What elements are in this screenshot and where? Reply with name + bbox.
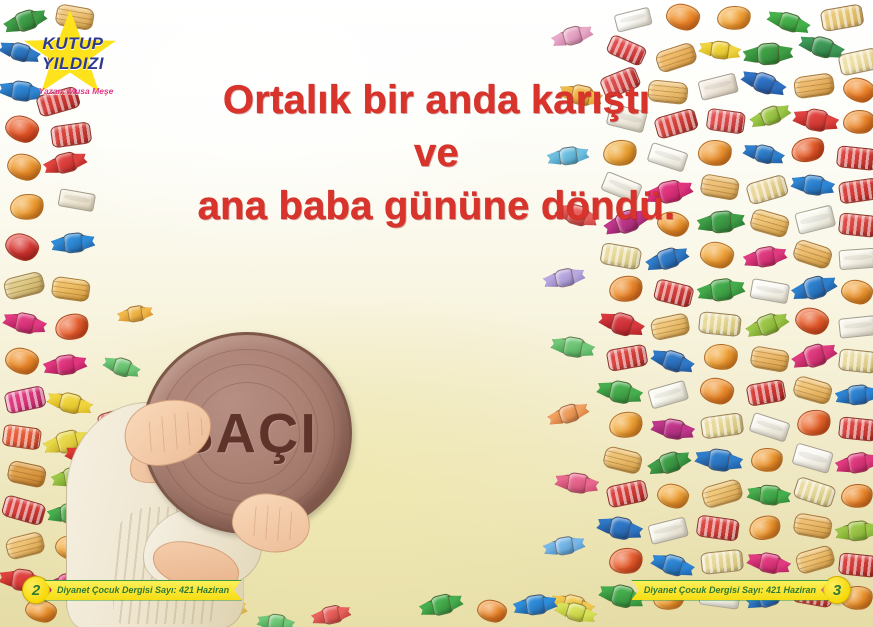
candy-body xyxy=(607,408,646,441)
candy-bow xyxy=(744,321,762,340)
candy-bow xyxy=(772,246,788,264)
candy-bow xyxy=(675,449,693,468)
candy-body xyxy=(2,270,47,302)
candy-body xyxy=(1,424,43,450)
candy-piece xyxy=(692,235,742,275)
candy-piece xyxy=(694,439,744,479)
candy-bow xyxy=(794,18,812,36)
candy-bow xyxy=(746,551,763,569)
candy-bow xyxy=(790,351,809,371)
candy-body xyxy=(659,348,688,374)
candy-piece xyxy=(833,40,873,82)
candy-bow xyxy=(42,359,58,376)
candy-body xyxy=(708,278,737,302)
candy-piece xyxy=(642,236,692,279)
candy-piece xyxy=(694,304,743,343)
candy-body xyxy=(648,517,689,545)
candy-bow xyxy=(102,355,118,372)
footer-left: 2 Diyanet Çocuk Dergisi Sayı: 421 Hazira… xyxy=(22,577,242,603)
candy-body xyxy=(3,385,47,415)
candy-body xyxy=(791,374,835,406)
candy-piece xyxy=(746,339,793,378)
candy-piece xyxy=(710,0,757,36)
candy-body xyxy=(475,597,509,625)
candy-piece xyxy=(601,267,652,311)
candy-body xyxy=(775,10,803,35)
magazine-credit-right: Diyanet Çocuk Dergisi Sayı: 421 Haziran xyxy=(631,580,829,601)
candy-piece xyxy=(470,593,515,627)
candy-piece xyxy=(0,340,47,381)
candy-bow xyxy=(597,310,615,330)
candy-body xyxy=(606,379,635,405)
candy-bow xyxy=(834,457,850,475)
headline-line-3: ana baba gününe döndü. xyxy=(0,184,873,229)
headline-line-2: ve xyxy=(0,131,873,176)
candy-body xyxy=(706,448,735,472)
candy-body xyxy=(552,266,578,289)
candy-piece xyxy=(746,476,791,512)
candy-bow xyxy=(573,401,590,419)
candy-piece xyxy=(46,269,94,307)
candy-bow xyxy=(581,607,598,625)
candy-bow xyxy=(742,251,758,269)
candy-body xyxy=(565,472,591,495)
candy-piece xyxy=(746,271,793,310)
candy-body xyxy=(753,245,780,269)
candy-body xyxy=(708,39,733,61)
candy-bow xyxy=(628,319,646,339)
candy-body xyxy=(523,593,549,616)
candy-bow xyxy=(598,583,616,602)
candy-piece xyxy=(601,403,652,447)
candy-piece xyxy=(696,405,746,445)
candy-piece xyxy=(0,263,49,307)
candy-bow xyxy=(542,540,558,557)
candy-bow xyxy=(820,341,839,361)
candy-bow xyxy=(777,44,794,61)
candy-bow xyxy=(584,477,600,494)
candy-piece xyxy=(698,31,742,66)
candy-bow xyxy=(550,31,567,49)
candy-bow xyxy=(51,236,66,253)
candy-piece xyxy=(742,373,789,412)
candy-body xyxy=(845,451,872,475)
candy-body xyxy=(698,311,743,338)
candy-body xyxy=(656,449,685,475)
candy-body xyxy=(4,530,47,561)
candy-piece xyxy=(788,265,840,310)
candy-piece xyxy=(46,305,98,350)
candy-body xyxy=(700,549,745,576)
candy-bow xyxy=(80,233,95,250)
magazine-credit-left: Diyanet Çocuk Dergisi Sayı: 421 Haziran xyxy=(44,580,242,601)
candy-bow xyxy=(31,317,48,335)
candy-piece xyxy=(609,0,655,38)
candy-body xyxy=(5,459,48,489)
candy-body xyxy=(793,544,837,576)
candy-body xyxy=(2,230,41,264)
candy-body xyxy=(754,311,783,338)
candy-body xyxy=(746,511,784,544)
candy-bow xyxy=(72,355,88,372)
candy-piece xyxy=(834,410,873,446)
candy-piece xyxy=(786,230,838,276)
candy-piece xyxy=(0,523,49,567)
candy-piece xyxy=(597,437,648,481)
candy-piece xyxy=(744,442,789,478)
candy-bow xyxy=(649,347,667,366)
candy-body xyxy=(795,407,833,439)
candy-body xyxy=(792,512,834,541)
candy-bow xyxy=(126,363,142,380)
footer-right: Diyanet Çocuk Dergisi Sayı: 421 Haziran … xyxy=(631,577,851,603)
candy-body xyxy=(819,3,865,32)
candy-bow xyxy=(644,254,662,273)
candy-piece xyxy=(815,0,866,38)
candy-bow xyxy=(696,284,713,302)
candy-bow xyxy=(578,24,595,42)
candy-body xyxy=(750,446,784,474)
candy-piece xyxy=(745,542,793,582)
candy-piece xyxy=(648,34,702,81)
candy-bow xyxy=(550,593,567,611)
candy-piece xyxy=(650,477,697,516)
candy-piece xyxy=(643,509,691,550)
candy-piece xyxy=(645,306,693,346)
candy-bow xyxy=(798,34,816,53)
candy-piece xyxy=(595,370,645,412)
candy-piece xyxy=(0,486,50,531)
candy-bow xyxy=(42,437,60,456)
candy-body xyxy=(800,342,830,370)
candy-piece xyxy=(743,34,793,71)
candy-piece xyxy=(764,0,813,42)
candy-bow xyxy=(746,485,761,502)
candy-body xyxy=(53,353,79,376)
candy-body xyxy=(599,242,643,271)
candy-bow xyxy=(542,273,558,290)
candy-bow xyxy=(579,600,596,618)
candy-body xyxy=(800,274,830,301)
candy-piece xyxy=(310,596,353,627)
candy-piece xyxy=(834,443,873,482)
candy-body xyxy=(664,1,703,33)
candy-bow xyxy=(140,305,154,320)
candy-bow xyxy=(679,423,695,441)
candy-body xyxy=(320,604,345,626)
candy-piece xyxy=(834,376,873,412)
candy-body xyxy=(791,443,834,474)
candy-bow xyxy=(864,521,873,538)
candy-bow xyxy=(727,454,744,472)
candy-piece xyxy=(650,409,697,448)
candy-piece xyxy=(649,271,697,312)
candy-bow xyxy=(650,418,666,436)
candy-body xyxy=(698,240,736,270)
candy-bow xyxy=(772,311,790,330)
candy-bow xyxy=(550,336,566,354)
candy-bow xyxy=(828,42,846,61)
candy-body xyxy=(845,384,871,406)
candy-piece xyxy=(786,367,838,412)
candy-body xyxy=(125,304,147,324)
candy-body xyxy=(556,401,583,426)
candy-body xyxy=(12,311,39,335)
candy-bow xyxy=(776,488,791,505)
candy-bow xyxy=(596,380,613,399)
candy-piece xyxy=(834,477,873,515)
candy-body xyxy=(792,475,838,509)
candy-body xyxy=(793,305,831,337)
candy-body xyxy=(50,276,92,302)
candy-body xyxy=(607,272,646,305)
candy-bow xyxy=(650,552,667,571)
candy-piece xyxy=(549,583,597,624)
candy-bow xyxy=(673,245,691,264)
candy-piece xyxy=(692,371,742,411)
candy-piece xyxy=(544,393,591,434)
candy-bow xyxy=(570,535,586,552)
candy-piece xyxy=(694,470,748,515)
candy-body xyxy=(605,343,649,372)
story-headline: Ortalık bir anda karıştı ve ana baba gün… xyxy=(0,78,873,228)
candy-piece xyxy=(602,27,651,71)
candy-body xyxy=(716,4,752,32)
candy-body xyxy=(655,481,691,511)
candy-body xyxy=(839,248,873,270)
candy-bow xyxy=(729,279,746,297)
candy-piece xyxy=(0,417,44,455)
candy-bow xyxy=(743,47,760,64)
candy-body xyxy=(552,535,578,557)
candy-piece xyxy=(744,404,794,447)
candy-piece xyxy=(697,338,745,375)
candy-piece xyxy=(796,25,847,68)
candy-body xyxy=(750,278,790,304)
candy-piece xyxy=(417,583,465,624)
candy-bow xyxy=(447,593,464,611)
candy-body xyxy=(845,520,871,542)
candy-bow xyxy=(694,449,711,467)
candy-piece xyxy=(740,506,790,549)
candy-piece xyxy=(644,440,694,483)
candy-body xyxy=(0,494,47,527)
candy-piece xyxy=(787,300,837,342)
candy-piece xyxy=(550,327,597,366)
candy-bow xyxy=(418,600,435,618)
candy-body xyxy=(695,514,740,542)
candy-bow xyxy=(646,458,664,477)
candy-body xyxy=(608,311,638,338)
candy-piece xyxy=(542,527,587,563)
candy-body xyxy=(606,515,635,541)
candy-piece xyxy=(834,342,873,378)
candy-bow xyxy=(0,40,14,58)
candy-body xyxy=(837,349,873,374)
candy-body xyxy=(61,232,87,254)
headline-line-1: Ortalık bir anda karıştı xyxy=(0,78,873,123)
candy-bow xyxy=(337,604,352,620)
candy-bow xyxy=(678,560,695,579)
candy-piece xyxy=(657,0,708,38)
candy-piece xyxy=(0,225,48,270)
candy-piece xyxy=(1,302,49,342)
candy-piece xyxy=(601,336,650,377)
magazine-spread: KUTUP YILDIZI Yazan: Musa Meşe Ortalık b… xyxy=(0,0,873,627)
candy-piece xyxy=(788,332,840,378)
candy-bow xyxy=(579,341,595,359)
candy-body xyxy=(648,380,689,409)
candy-body xyxy=(837,47,873,77)
candy-piece xyxy=(642,373,691,415)
candy-piece xyxy=(742,237,789,276)
candy-body xyxy=(560,593,588,618)
candy-piece xyxy=(50,224,95,260)
candy-piece xyxy=(595,506,645,548)
candy-body xyxy=(700,412,745,440)
candy-piece xyxy=(835,241,873,276)
candy-body xyxy=(837,553,873,578)
candy-body xyxy=(601,445,644,476)
candy-body xyxy=(745,379,787,407)
candy-piece xyxy=(1,452,51,494)
candy-bow xyxy=(626,386,643,405)
logo-line-1: KUTUP xyxy=(14,34,132,54)
candy-piece xyxy=(601,472,651,514)
candy-body xyxy=(791,238,835,271)
candy-body xyxy=(808,34,837,60)
candy-piece xyxy=(601,540,650,581)
candy-piece xyxy=(786,435,838,480)
candy-body xyxy=(839,482,873,511)
candy-body xyxy=(698,376,736,406)
candy-bow xyxy=(570,267,586,284)
candy-body xyxy=(757,484,783,506)
candy-body xyxy=(839,315,873,339)
candy-body xyxy=(839,278,873,307)
candy-piece xyxy=(0,378,49,420)
candy-bow xyxy=(698,40,713,56)
candy-body xyxy=(756,551,783,575)
candy-body xyxy=(650,313,691,341)
candy-piece xyxy=(696,269,746,309)
candy-piece xyxy=(696,542,745,581)
candy-bow xyxy=(766,9,784,27)
candy-piece xyxy=(787,504,836,545)
candy-body xyxy=(605,34,647,67)
candy-piece xyxy=(834,308,873,344)
candy-bow xyxy=(554,600,571,618)
candy-body xyxy=(659,552,687,578)
candy-body xyxy=(749,412,791,442)
candy-bow xyxy=(864,385,873,402)
candy-bow xyxy=(596,516,613,535)
candy-piece xyxy=(541,258,586,296)
candy-body xyxy=(563,600,590,624)
candy-body xyxy=(110,356,135,379)
candy-bow xyxy=(835,524,850,541)
candy-bow xyxy=(835,388,850,405)
candy-piece xyxy=(742,302,792,346)
candy-piece xyxy=(788,468,840,514)
candy-piece xyxy=(595,234,644,275)
candy-body xyxy=(605,479,649,509)
candy-bow xyxy=(775,557,792,575)
candy-body xyxy=(3,345,40,376)
candy-piece xyxy=(789,402,839,444)
candy-bow xyxy=(546,410,563,428)
candy-bow xyxy=(820,274,838,294)
candy-body xyxy=(654,245,683,271)
candy-piece xyxy=(553,591,600,627)
candy-piece xyxy=(692,507,742,547)
candy-bow xyxy=(2,311,19,329)
candy-piece xyxy=(554,463,600,501)
candy-body xyxy=(614,6,653,33)
candy-body xyxy=(653,41,699,75)
candy-piece xyxy=(512,585,558,623)
candy-bow xyxy=(0,569,14,587)
candy-piece xyxy=(116,297,154,329)
candy-piece xyxy=(788,537,840,582)
candy-body xyxy=(652,278,695,308)
candy-body xyxy=(837,417,873,442)
candy-bow xyxy=(790,283,808,303)
candy-bow xyxy=(726,44,741,60)
candy-body xyxy=(660,417,687,441)
candy-body xyxy=(560,335,587,359)
candy-bow xyxy=(554,473,570,490)
candy-bow xyxy=(512,599,528,616)
candy-piece xyxy=(834,273,873,311)
candy-body xyxy=(52,310,91,344)
candy-bow xyxy=(311,610,326,626)
candy-body xyxy=(560,24,587,48)
candy-bow xyxy=(117,309,131,324)
candy-piece xyxy=(596,301,648,346)
candy-bow xyxy=(864,452,873,470)
candy-body xyxy=(607,545,644,576)
candy-body xyxy=(755,42,783,65)
candy-bow xyxy=(626,522,643,541)
candy-piece xyxy=(648,338,698,381)
candy-body xyxy=(428,592,456,617)
candy-piece xyxy=(834,512,873,548)
candy-bow xyxy=(542,595,558,612)
candy-body xyxy=(750,345,790,372)
candy-bow xyxy=(678,356,696,375)
candy-piece xyxy=(549,15,596,55)
logo-line-2: YILDIZI xyxy=(14,54,132,74)
candy-body xyxy=(700,477,745,510)
candy-body xyxy=(703,343,740,371)
